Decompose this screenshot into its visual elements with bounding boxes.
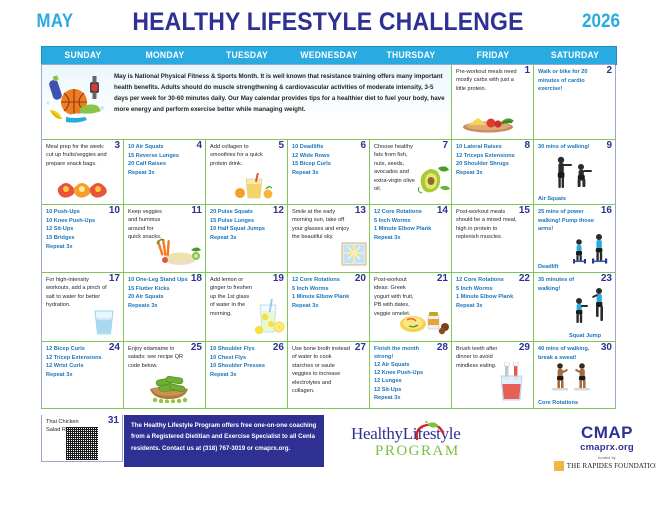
workout-line: 20 Shoulder Shrugs (456, 160, 517, 169)
day-cell-11[interactable]: 11 Keep veggies and hummus around for qu… (124, 205, 206, 273)
workout-line: 1 Minute Elbow Plank (456, 293, 517, 302)
day-cell-27[interactable]: 27 Use bone broth instead of water to co… (288, 342, 370, 409)
day-number: 24 (109, 343, 120, 353)
day-text: Post-workout ideas: Greek yogurt with fr… (374, 276, 432, 318)
day-number: 3 (114, 141, 120, 151)
water-glass-icon (91, 309, 117, 340)
workout-line: 20 Calf Raises (128, 160, 189, 169)
day-number: 30 (601, 343, 612, 353)
day-number: 1 (524, 66, 530, 76)
workout-line: 12 Core Rotations (374, 208, 435, 217)
workout-line: 12 Tricep Extensions (46, 354, 107, 363)
day-cell-14[interactable]: 14 12 Core Rotations 5 Inch Worms 1 Minu… (370, 205, 452, 273)
workout-line: 12 Lunges (374, 377, 435, 385)
weekday-header-bar: SUNDAY MONDAY TUESDAY WEDNESDAY THURSDAY… (41, 46, 617, 65)
day-cell-4[interactable]: 4 10 Air Squats 15 Reverse Lunges 20 Cal… (124, 140, 206, 205)
workout-line: 10 Air Squats (128, 143, 189, 152)
air-squat-figures (550, 155, 598, 196)
day-number: 31 (108, 416, 119, 426)
day-caption: Core Rotations (538, 400, 578, 406)
month-label: MAY (7, 11, 104, 33)
day-number: 17 (109, 274, 120, 284)
workout-line: 12 Sit-Ups (374, 386, 435, 394)
day-number: 16 (601, 206, 612, 216)
calendar-week-row: 17 For high-intensity workouts, add a pi… (42, 273, 615, 342)
workout-line: 12 Triceps Extensions (456, 152, 517, 161)
day-cell-20[interactable]: 20 12 Core Rotations 5 Inch Worms 1 Minu… (288, 273, 370, 342)
day-cell-2[interactable]: 2 Walk or bike for 20 minutes of cardio … (534, 65, 616, 140)
promo-banner: The Healthy Lifestyle Program offers fre… (124, 415, 324, 467)
logo-row: HealthyLifestyle PROGRAM CMAP cmaprx.org… (341, 413, 656, 485)
calendar-week-row: May is National Physical Fitness & Sport… (42, 65, 615, 140)
rapides-square-icon (554, 461, 564, 471)
day-number: 2 (606, 66, 612, 76)
day-cell-6[interactable]: 6 10 Deadlifts 12 Wide Rows 15 Bicep Cur… (288, 140, 370, 205)
day-cell-12[interactable]: 12 20 Pulse Squats 15 Pulse Lunges 10 Ha… (206, 205, 288, 273)
workout-line: 12 Knee Push-Ups (374, 369, 435, 377)
day-text: Finish the month strong! 12 Air Squats 1… (374, 345, 447, 402)
day-number: 11 (191, 206, 202, 216)
workout-line: 20 Air Squats (128, 293, 192, 302)
weekday-friday: FRIDAY (456, 50, 530, 61)
workout-line: Repeat 3x (46, 243, 107, 252)
day-cell-21[interactable]: 21 Post-workout ideas: Greek yogurt with… (370, 273, 452, 342)
workout-line: 12 Air Squats (374, 361, 435, 369)
workout-line: 10 Lateral Raises (456, 143, 517, 152)
day-text: 10 Deadlifts 12 Wide Rows 15 Bicep Curls… (292, 143, 365, 178)
workout-line: 12 Wrist Curls (46, 362, 107, 371)
day-cell-16[interactable]: 16 25 mins of power walking! Pump those … (534, 205, 616, 273)
day-text: Walk or bike for 20 minutes of cardio ex… (538, 68, 611, 94)
day-text: Keep veggies and hummus around for quick… (128, 208, 180, 242)
workout-line: Finish the month strong! (374, 345, 435, 361)
day-cell-30[interactable]: 30 40 mins of walking, break a sweat! (534, 342, 616, 409)
day-text: Add collagen to smoothies for a quick pr… (210, 143, 283, 168)
day-text: 10 Lateral Raises 12 Triceps Extensions … (456, 143, 529, 178)
day-cell-17[interactable]: 17 For high-intensity workouts, add a pi… (42, 273, 124, 342)
day-cell-23[interactable]: 23 35 minutes of walking! (534, 273, 616, 342)
core-rotation-figures (546, 362, 598, 399)
weekday-sunday: SUNDAY (46, 50, 120, 61)
day-number: 20 (355, 274, 366, 284)
cmap-logo: CMAP cmaprx.org funded by THE RAPIDES FO… (537, 423, 656, 471)
day-number: 4 (196, 141, 202, 151)
day-text: Choose healthy fats from fish, nuts, see… (374, 143, 430, 193)
day-number: 13 (355, 206, 366, 216)
workout-line: 10 Push-Ups (46, 208, 107, 217)
calendar-grid: May is National Physical Fitness & Sport… (41, 64, 615, 409)
workout-line: Repeat 3x (374, 234, 435, 243)
workout-line: 5 Inch Worms (456, 285, 517, 294)
day-text: Add lemon or ginger to freshen up the 1s… (210, 276, 266, 318)
day-number: 12 (273, 206, 284, 216)
day-cell-7[interactable]: 7 Choose healthy fats from fish, nuts, s… (370, 140, 452, 205)
weekday-tuesday: TUESDAY (210, 50, 284, 61)
calendar-week-row: 24 12 Bicep Curls 12 Tricep Extensions 1… (42, 342, 615, 409)
qr-code[interactable] (66, 427, 98, 460)
day-cell-5[interactable]: 5 Add collagen to smoothies for a quick … (206, 140, 288, 205)
cmap-url: cmaprx.org (537, 442, 656, 453)
day-number: 28 (437, 343, 448, 353)
day-number: 9 (606, 141, 612, 151)
day-cell-31[interactable]: Thai Chicken Salad Recipe 31 (41, 415, 123, 462)
day-caption: Deadlift (538, 264, 559, 270)
day-number: 22 (519, 274, 530, 284)
workout-line: 10 One-Leg Stand Ups (128, 276, 192, 285)
day-number: 25 (191, 343, 202, 353)
workout-line: 5 Inch Worms (292, 285, 353, 294)
calendar-week-row: 3 Meal prep for the week: cut up fruits/… (42, 140, 615, 205)
page-title: HEALTHY LIFESTYLE CHALLENGE (127, 8, 528, 37)
workout-line: 12 Sit-Ups (46, 225, 107, 234)
masthead: MAY HEALTHY LIFESTYLE CHALLENGE 2026 (0, 0, 656, 44)
day-number: 18 (191, 274, 202, 284)
day-cell-13[interactable]: 13 Smile at the early morning sun, take … (288, 205, 370, 273)
year-label: 2026 (552, 11, 651, 33)
workout-line: 10 Chest Flys (210, 354, 274, 363)
day-cell-19[interactable]: 19 Add lemon or ginger to freshen up the… (206, 273, 288, 342)
workout-line: 15 Bicep Curls (292, 160, 353, 169)
workout-line: Repeat 3x (128, 169, 189, 178)
workout-line: 5 Inch Worms (374, 217, 435, 226)
smoothie-glass-icon (232, 173, 278, 204)
day-text: Pre-workout meals need mostly carbs with… (456, 68, 529, 93)
day-number: 23 (601, 274, 612, 284)
day-number: 21 (437, 274, 448, 284)
apple-leaf-icon (413, 421, 449, 443)
workout-line: Repeat 3x (46, 371, 107, 380)
sports-equipment-illustration (44, 70, 114, 132)
calendar-footer: Thai Chicken Salad Recipe 31 The Healthy… (41, 415, 615, 485)
day-cell-10[interactable]: 10 10 Push-Ups 10 Knee Push-Ups 12 Sit-U… (42, 205, 124, 273)
day-text: 30 mins of walking! (538, 143, 611, 152)
workout-line: 10 Shoulder Presses (210, 362, 274, 371)
weekday-monday: MONDAY (128, 50, 202, 61)
workout-line: 12 Core Rotations (456, 276, 517, 285)
day-number: 8 (524, 141, 530, 151)
day-cell-26[interactable]: 26 10 Shoulder Flys 10 Chest Flys 10 Sho… (206, 342, 288, 409)
day-cell-22[interactable]: 22 12 Core Rotations 5 Inch Worms 1 Minu… (452, 273, 534, 342)
workout-line: Repeat 3x (374, 394, 435, 402)
edamame-bowl-icon (142, 373, 196, 408)
workout-line: 15 Reverse Lunges (128, 152, 189, 161)
day-number: 10 (109, 206, 120, 216)
day-cell-18[interactable]: 18 10 One-Leg Stand Ups 15 Flutter Kicks… (124, 273, 206, 342)
day-cell-25[interactable]: 25 Enjoy edamame in salads: see recipe Q… (124, 342, 206, 409)
workout-line: 10 Shoulder Flys (210, 345, 274, 354)
workout-line: Repeat 3x (210, 234, 271, 243)
workout-line: Repeat 3x (456, 302, 517, 311)
workout-line: 15 Pulse Lunges (210, 217, 271, 226)
promo-text: The Healthy Lifestyle Program offers fre… (131, 422, 316, 452)
workout-line: 1 Minute Elbow Plank (292, 293, 353, 302)
workout-line: Repeat 3x (292, 169, 353, 178)
cmap-wordmark: CMAP (537, 423, 656, 443)
day-text: Brush teeth after dinner to avoid mindle… (456, 345, 518, 370)
workout-line: 12 Core Rotations (292, 276, 353, 285)
day-cell-24[interactable]: 24 12 Bicep Curls 12 Tricep Extensions 1… (42, 342, 124, 409)
day-cell-9[interactable]: 9 30 mins of walking! (534, 140, 616, 205)
logo-word-healthy: Healthy (351, 424, 403, 443)
workout-line: Repeat 3x (456, 169, 517, 178)
day-number: 5 (278, 141, 284, 151)
day-cell-8[interactable]: 8 10 Lateral Raises 12 Triceps Extension… (452, 140, 534, 205)
day-number: 29 (519, 343, 530, 353)
day-number: 14 (437, 206, 448, 216)
weekday-saturday: SATURDAY (538, 50, 612, 61)
plate-of-food-icon (460, 111, 516, 138)
day-text: 35 minutes of walking! (538, 276, 588, 293)
workout-line: 15 Flutter Kicks (128, 285, 192, 294)
rapides-foundation-logo: THE RAPIDES FOUNDATION (537, 461, 656, 471)
snack-bags-icon (54, 180, 108, 204)
deadlift-figures (567, 233, 613, 270)
day-number: 15 (519, 206, 530, 216)
day-number: 6 (360, 141, 366, 151)
day-number: 27 (355, 343, 366, 353)
workout-line: 20 Pulse Squats (210, 208, 271, 217)
squat-jump-figures (568, 287, 612, 332)
workout-line: 10 Deadlifts (292, 143, 353, 152)
workout-line: 10 Knee Push-Ups (46, 217, 107, 226)
healthy-lifestyle-program-logo: HealthyLifestyle PROGRAM (351, 425, 511, 460)
workout-line: Repeat 3x (292, 302, 353, 311)
workout-line: 1 Minute Elbow Plank (374, 225, 435, 234)
workout-line: 15 Bridges (46, 234, 107, 243)
day-number: 19 (273, 274, 284, 284)
day-cell-29[interactable]: 29 Brush teeth after dinner to avoid min… (452, 342, 534, 409)
rapides-wordmark: THE RAPIDES FOUNDATION (567, 462, 656, 470)
sunrise-window-icon (341, 242, 367, 271)
intro-banner: May is National Physical Fitness & Sport… (42, 65, 452, 140)
day-cell-15[interactable]: 15 Post-workout meals should be a mixed … (452, 205, 534, 273)
calendar-week-row: 10 10 Push-Ups 10 Knee Push-Ups 12 Sit-U… (42, 205, 615, 273)
day-number: 7 (442, 141, 448, 151)
calendar-page: MAY HEALTHY LIFESTYLE CHALLENGE 2026 SUN… (0, 0, 656, 506)
workout-line: Repeats 3x (128, 302, 192, 311)
weekday-wednesday: WEDNESDAY (292, 50, 366, 61)
workout-line: 12 Wide Rows (292, 152, 353, 161)
workout-line: 10 Half Squat Jumps (210, 225, 271, 234)
workout-line: 12 Bicep Curls (46, 345, 107, 354)
day-cell-3[interactable]: 3 Meal prep for the week: cut up fruits/… (42, 140, 124, 205)
funded-by-label: funded by (537, 456, 656, 460)
day-number: 26 (273, 343, 284, 353)
day-caption: Squat Jump (569, 333, 601, 339)
logo-word-program: PROGRAM (375, 443, 511, 460)
day-text: Meal prep for the week: cut up fruits/ve… (46, 143, 119, 168)
day-cell-1[interactable]: 1 Pre-workout meals need mostly carbs wi… (452, 65, 534, 140)
day-cell-28[interactable]: 28 Finish the month strong! 12 Air Squat… (370, 342, 452, 409)
weekday-thursday: THURSDAY (374, 50, 448, 61)
day-text: 10 Air Squats 15 Reverse Lunges 20 Calf … (128, 143, 201, 178)
day-caption: Air Squats (538, 196, 566, 202)
workout-line: Repeat 3x (210, 371, 274, 380)
intro-text: May is National Physical Fitness & Sport… (114, 70, 447, 115)
